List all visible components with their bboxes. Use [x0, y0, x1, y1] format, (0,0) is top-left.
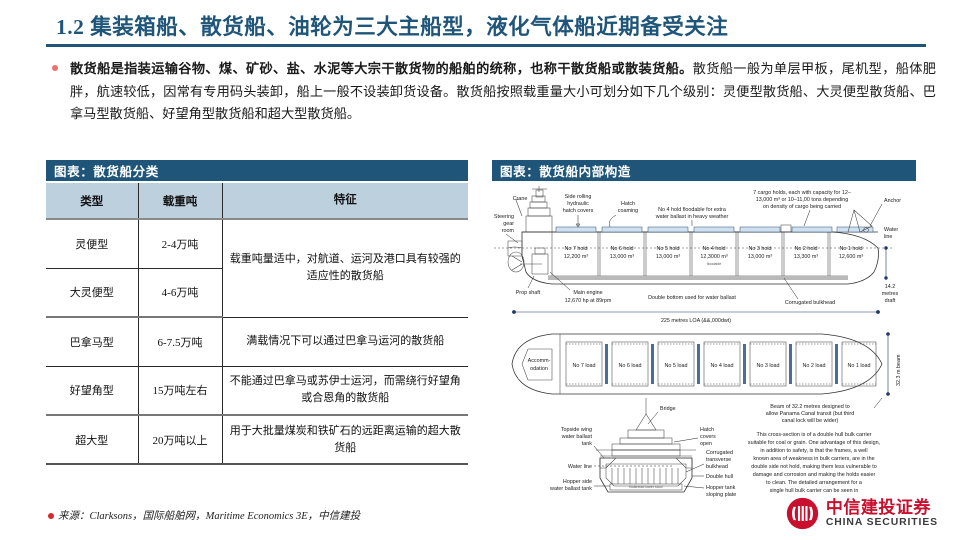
beam-label: 32.3 m beam: [896, 354, 902, 386]
plan-hold-label: No 5 load: [664, 363, 687, 369]
company-logo: 中信建投证券 CHINA SECURITIES: [786, 497, 938, 530]
bulk-carrier-diagram-svg: .lb { font-family: "Liberation Sans", sa…: [492, 186, 916, 498]
cell-dwt: 15万吨左右: [138, 366, 222, 415]
svg-text:double side not hold, making t: double side not hold, making them less v…: [751, 464, 877, 470]
loa-dimension: 225 metres LOA (&&,000dwt): [512, 310, 880, 324]
svg-text:to clean. The detailed arrange: to clean. The detailed arrangement for a: [766, 480, 862, 486]
table-row: 巴拿马型 6-7.5万吨 满载情况下可以通过巴拿马运河的散货船: [46, 317, 468, 366]
table-row: 超大型 20万吨以上 用于大批量煤炭和铁矿石的远距离运输的超大散货船: [46, 415, 468, 464]
hold-name: No 6 hold: [610, 246, 633, 252]
svg-text:7 cargo holds, each with capac: 7 cargo holds, each with capacity for 12…: [753, 190, 851, 196]
hold-name: No 5 hold: [656, 246, 679, 252]
cell-type: 灵便型: [46, 219, 138, 268]
hold-volume: 13,000 m³: [748, 254, 772, 260]
profile-view: No 7 hold 12,200 m³ No 6 hold 13,000 m³ …: [494, 186, 901, 324]
svg-text:transverse: transverse: [706, 457, 731, 463]
callout-corrugated-transverse-bulkhead: Corrugated transverse bulkhead: [706, 450, 733, 470]
loa-label: 225 metres LOA (&&,000dwt): [661, 318, 731, 324]
svg-text:on density of cargo being carr: on density of cargo being carried: [763, 204, 841, 210]
callout-crane: Crane: [513, 196, 528, 202]
bullet-icon: [52, 65, 58, 71]
svg-text:suitable for coal or grain. On: suitable for coal or grain. One advantag…: [748, 440, 881, 446]
table-row: 好望角型 15万吨左右 不能通过巴拿马或苏伊士运河，而需绕行好望角或合恩角的散货…: [46, 366, 468, 415]
svg-text:Side rolling: Side rolling: [565, 194, 592, 200]
logo-name-cn: 中信建投证券: [826, 499, 938, 517]
callout-hopper-side-tank: Hopper side water ballast tank: [549, 479, 592, 492]
callout-double-hull: Double hull: [706, 474, 733, 480]
svg-text:water ballast tank: water ballast tank: [549, 486, 592, 492]
svg-text:known area of weakness in bulk: known area of weakness in bulk carriers,…: [753, 456, 874, 462]
plan-hold-label: No 6 load: [618, 363, 641, 369]
hold-name: No 4 hold: [702, 246, 725, 252]
callout-corrugated-bulkhead: Corrugated bulkhead: [785, 300, 835, 306]
callout-cargo-holds-note: 7 cargo holds, each with capacity for 12…: [753, 190, 851, 210]
hold-volume: 13,000 m³: [610, 254, 634, 260]
svg-text:13,000 m³ or 10–11,00 tons dep: 13,000 m³ or 10–11,00 tons depending: [756, 197, 849, 203]
svg-text:bulkhead: bulkhead: [706, 464, 728, 470]
svg-text:Accomm-: Accomm-: [528, 358, 551, 364]
svg-text:canal lock will be wider): canal lock will be wider): [782, 418, 839, 424]
beam-dimension: 32.3 m beam: [886, 332, 902, 396]
svg-text:line: line: [884, 234, 892, 240]
plan-view: Accomm- odation No 7 load N: [512, 332, 902, 424]
svg-text:hydraulic: hydraulic: [567, 201, 589, 207]
hold-labels: No 7 hold 12,200 m³ No 6 hold 13,000 m³ …: [564, 246, 863, 266]
callout-no4-floodable: No 4 hold floodable for extra water ball…: [655, 207, 729, 220]
column-header-feature: 特征: [222, 183, 468, 219]
svg-text:open: open: [700, 441, 712, 447]
logo-name-en: CHINA SECURITIES: [826, 517, 938, 529]
svg-text:No 4 hold floodable for extra: No 4 hold floodable for extra: [658, 207, 726, 213]
logo-text: 中信建投证券 CHINA SECURITIES: [826, 499, 938, 529]
right-panel-header: 图表：散货船内部构造: [492, 160, 916, 181]
hold-name: No 1 hold: [839, 246, 862, 252]
plan-hold-label: No 4 load: [710, 363, 733, 369]
cell-feature: 不能通过巴拿马或苏伊士运河，而需绕行好望角或合恩角的散货船: [222, 366, 468, 415]
citic-logo-icon: [786, 497, 819, 530]
cell-type: 巴拿马型: [46, 317, 138, 366]
svg-text:Main engine: Main engine: [573, 290, 602, 296]
svg-text:allow Panama Canal transit (bu: allow Panama Canal transit (but third: [766, 411, 854, 417]
hold-volume: 12,3000 m³: [700, 254, 727, 260]
column-header-dwt: 载重吨: [138, 183, 222, 219]
svg-text:This cross-section is of a dou: This cross-section is of a double hull b…: [756, 432, 871, 438]
svg-text:tank: tank: [582, 441, 592, 447]
svg-text:Hopper tank: Hopper tank: [706, 485, 736, 491]
plan-hold-label: No 3 load: [756, 363, 779, 369]
callout-prop-shaft: Prop shaft: [516, 290, 541, 296]
cell-dwt: 2-4万吨: [138, 219, 222, 268]
svg-text:gear: gear: [503, 221, 514, 227]
cell-feature: 满载情况下可以通过巴拿马运河的散货船: [222, 317, 468, 366]
cell-dwt: 4-6万吨: [138, 268, 222, 317]
column-header-type: 类型: [46, 183, 138, 219]
svg-text:covers: covers: [700, 434, 716, 440]
source-note-text: 来源：Clarksons，国际船舶网，Maritime Economics 3E…: [58, 508, 360, 523]
svg-text:draft: draft: [885, 298, 896, 304]
page-title: 1.2 集装箱船、散货船、油轮为三大主船型，液化气体船近期备受关注: [56, 8, 936, 42]
svg-text:Hopper side: Hopper side: [563, 479, 592, 485]
callout-steering-gear-room: Steering gear room: [494, 214, 515, 234]
plan-hold-label: No 2 load: [802, 363, 825, 369]
hold-name: No 3 hold: [748, 246, 771, 252]
beam-note: Beam of 32.2 metres designed to allow Pa…: [766, 404, 854, 424]
callout-bridge: Bridge: [660, 406, 676, 412]
callout-hopper-tank-sloping-plate: Hopper tank sloping plate: [706, 485, 736, 498]
svg-text:coaming: coaming: [618, 208, 638, 214]
cell-feature: 载重吨量适中，对航道、运河及港口具有较强的适应性的散货船: [222, 219, 468, 317]
svg-text:odation: odation: [530, 366, 548, 372]
callout-hatch-covers-open: Hatch covers open: [700, 427, 716, 447]
hold-volume: 13,300 m³: [794, 254, 818, 260]
lead-bold: 散货船是指装运输谷物、煤、矿砂、盐、水泥等大宗干散货物的船舶的统称，也称干散货船…: [70, 61, 693, 76]
svg-text:Hatch: Hatch: [621, 201, 635, 207]
svg-text:room: room: [502, 228, 515, 234]
cell-dwt: 20万吨以上: [138, 415, 222, 464]
svg-text:in addition to safety, is that: in addition to safety, is that the frame…: [760, 448, 867, 454]
source-bullet-icon: [48, 513, 54, 519]
svg-text:14.2: 14.2: [885, 284, 896, 290]
cell-type: 大灵便型: [46, 268, 138, 317]
slide-root: 1.2 集装箱船、散货船、油轮为三大主船型，液化气体船近期备受关注 散货船是指装…: [0, 0, 960, 540]
callout-water-line-section: Water line: [568, 464, 592, 470]
hold-volume: 12,200 m³: [564, 254, 588, 260]
plan-hold-label: No 1 load: [847, 363, 870, 369]
page-title-text: 1.2 集装箱船、散货船、油轮为三大主船型，液化气体船近期备受关注: [56, 10, 728, 41]
svg-text:single hull bulk carrier can b: single hull bulk carrier can be seen in: [770, 488, 859, 494]
bulk-carrier-classification-table: 类型 载重吨 特征 灵便型 2-4万吨 载重吨量适中，对航道、运河及港口具有较强…: [46, 183, 468, 465]
lead-paragraph-body: 散货船是指装运输谷物、煤、矿砂、盐、水泥等大宗干散货物的船舶的统称，也称干散货船…: [70, 58, 936, 126]
svg-text:water ballast: water ballast: [561, 434, 593, 440]
svg-text:Beam of 32.2 metres designed t: Beam of 32.2 metres designed to: [770, 404, 849, 410]
hatch-covers: [556, 225, 873, 232]
svg-text:Corrugated: Corrugated: [706, 450, 733, 456]
callout-double-bottom: Double bottom used for water ballast: [648, 295, 736, 301]
hold-volume: 13,000 m³: [656, 254, 680, 260]
hold-name: No 2 hold: [794, 246, 817, 252]
cell-feature: 用于大批量煤炭和铁矿石的远距离运输的超大散货船: [222, 415, 468, 464]
hold-note: floodable: [707, 262, 722, 266]
svg-text:Water: Water: [884, 227, 898, 233]
left-panel-header-text: 图表：散货船分类: [54, 161, 159, 180]
callout-hatch-coaming: Hatch coaming: [618, 201, 638, 214]
left-panel-header: 图表：散货船分类: [46, 160, 468, 181]
svg-text:12,670 hp at 89rpm: 12,670 hp at 89rpm: [565, 298, 612, 304]
cell-type: 超大型: [46, 415, 138, 464]
bulkhead-stool-label: Bulkhead lower stool: [629, 485, 662, 489]
callout-water-line: Water line: [884, 227, 898, 240]
svg-text:water ballast in heavy weather: water ballast in heavy weather: [655, 214, 729, 220]
lead-paragraph: 散货船是指装运输谷物、煤、矿砂、盐、水泥等大宗干散货物的船舶的统称，也称干散货船…: [48, 58, 936, 126]
callout-side-rolling-hatch-covers: Side rolling hydraulic hatch covers: [563, 194, 594, 214]
table-row: 灵便型 2-4万吨 载重吨量适中，对航道、运河及港口具有较强的适应性的散货船: [46, 219, 468, 268]
callout-anchor: Anchor: [884, 198, 901, 204]
hold-volume: 12,600 m³: [839, 254, 863, 260]
source-note: 来源：Clarksons，国际船舶网，Maritime Economics 3E…: [48, 508, 468, 523]
callout-main-engine: Main engine 12,670 hp at 89rpm: [565, 290, 612, 304]
cell-type: 好望角型: [46, 366, 138, 415]
svg-text:Hatch: Hatch: [700, 427, 714, 433]
svg-text:Topside wing: Topside wing: [561, 427, 592, 433]
svg-text:hatch covers: hatch covers: [563, 208, 594, 214]
callout-topside-wing-tank: Topside wing water ballast tank: [561, 427, 593, 447]
draft-dimension: 14.2 metres draft: [882, 246, 899, 304]
cross-section-description: This cross-section is of a double hull b…: [748, 432, 881, 494]
plan-holds: No 7 load No 6 load No 5 load: [566, 342, 876, 386]
svg-text:metres: metres: [882, 291, 899, 297]
svg-text:Steering: Steering: [494, 214, 514, 220]
plan-hold-label: No 7 load: [572, 363, 595, 369]
bulk-carrier-diagram: .lb { font-family: "Liberation Sans", sa…: [492, 186, 916, 498]
cell-dwt: 6-7.5万吨: [138, 317, 222, 366]
svg-text:sloping plate: sloping plate: [706, 492, 736, 498]
title-underline: [46, 44, 926, 47]
table-header-row: 类型 载重吨 特征: [46, 183, 468, 219]
hold-name: No 7 hold: [564, 246, 587, 252]
right-panel-header-text: 图表：散货船内部构造: [500, 161, 631, 180]
svg-text:damage and corrosion and makin: damage and corrosion and making the hold…: [753, 472, 876, 478]
